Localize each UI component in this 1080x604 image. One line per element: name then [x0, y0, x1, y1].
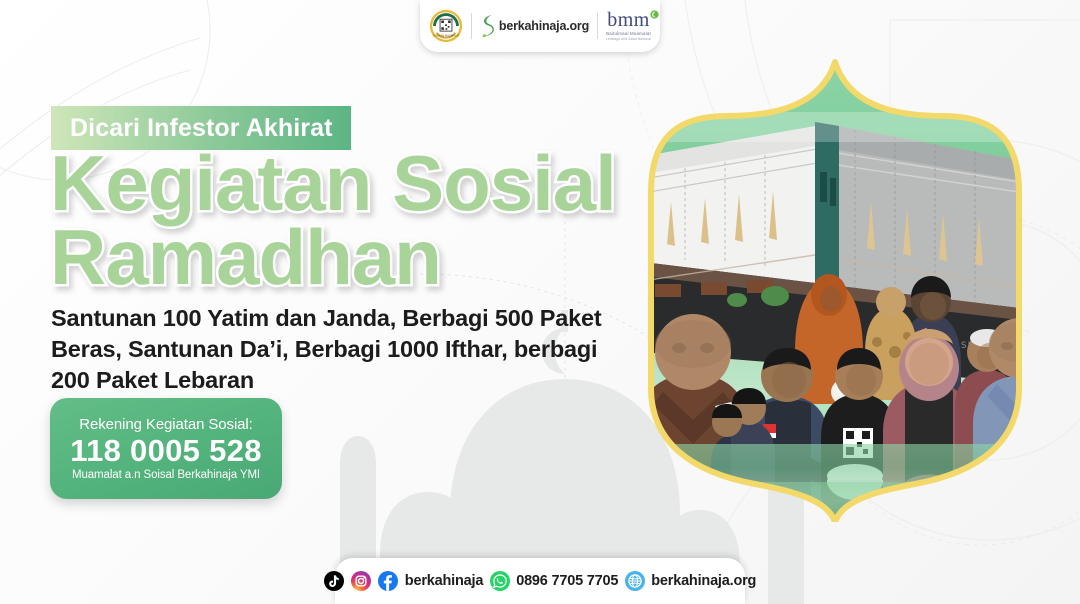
hero-subcopy: Santunan 100 Yatim dan Janda, Berbagi 50… [51, 303, 641, 396]
account-owner: Muamalat a.n Soisal Berkahinaja YMI [72, 469, 260, 481]
social-handle-text: berkahinaja [405, 573, 483, 589]
whatsapp-contact[interactable]: 0896 7705 7705 [490, 571, 618, 591]
bmm-logo-wordmark: bmm [607, 9, 650, 31]
berkahinaja-logo-text: berkahinaja.org [499, 19, 589, 33]
account-label: Rekening Kegiatan Sosial: [79, 416, 252, 433]
bmm-logo-tagline: Lembaga Amil Zakat Nasional [606, 37, 651, 41]
logo-divider-1 [471, 13, 472, 39]
bmm-crescent-icon [650, 10, 659, 19]
tiktok-icon[interactable] [324, 571, 344, 591]
globe-icon[interactable] [625, 571, 645, 591]
website-link[interactable]: berkahinaja.org [625, 571, 756, 591]
berkahinaja-logo: berkahinaja.org [480, 13, 589, 39]
website-url-text: berkahinaja.org [651, 573, 756, 589]
logo-bar: YAYASAN MUAMALAT berkahinaja.org bmm Bai… [420, 0, 660, 52]
instagram-icon[interactable] [351, 571, 371, 591]
bmm-logo: bmm Baitulmaal Muamalat Lembaga Amil Zak… [606, 11, 651, 41]
footer-contact-bar: berkahinaja 0896 7705 7705 berkahinaja.o… [335, 558, 745, 604]
page-title: Kegiatan Sosial Ramadhan [50, 146, 616, 294]
account-card: Rekening Kegiatan Sosial: 118 0005 528 M… [50, 398, 282, 499]
facebook-icon[interactable] [378, 571, 398, 591]
logo-divider-2 [597, 13, 598, 39]
whatsapp-number-text: 0896 7705 7705 [516, 573, 618, 589]
photo-frame-artwork: MASJID [615, 52, 1055, 522]
account-number: 118 0005 528 [70, 433, 262, 470]
promo-banner: YAYASAN MUAMALAT berkahinaja.org bmm Bai… [0, 0, 1080, 604]
headline-line-2: Ramadhan [50, 220, 616, 294]
berkahinaja-leaf-icon [480, 13, 496, 39]
whatsapp-icon[interactable] [490, 571, 510, 591]
photo-frame: <-- --> [615, 52, 1055, 522]
hero-content: Dicari Infestor Akhirat Kegiatan Sosial … [0, 0, 660, 604]
svg-text:YAYASAN MUAMALAT: YAYASAN MUAMALAT [432, 34, 460, 38]
ymi-seal-logo: YAYASAN MUAMALAT [429, 9, 463, 43]
